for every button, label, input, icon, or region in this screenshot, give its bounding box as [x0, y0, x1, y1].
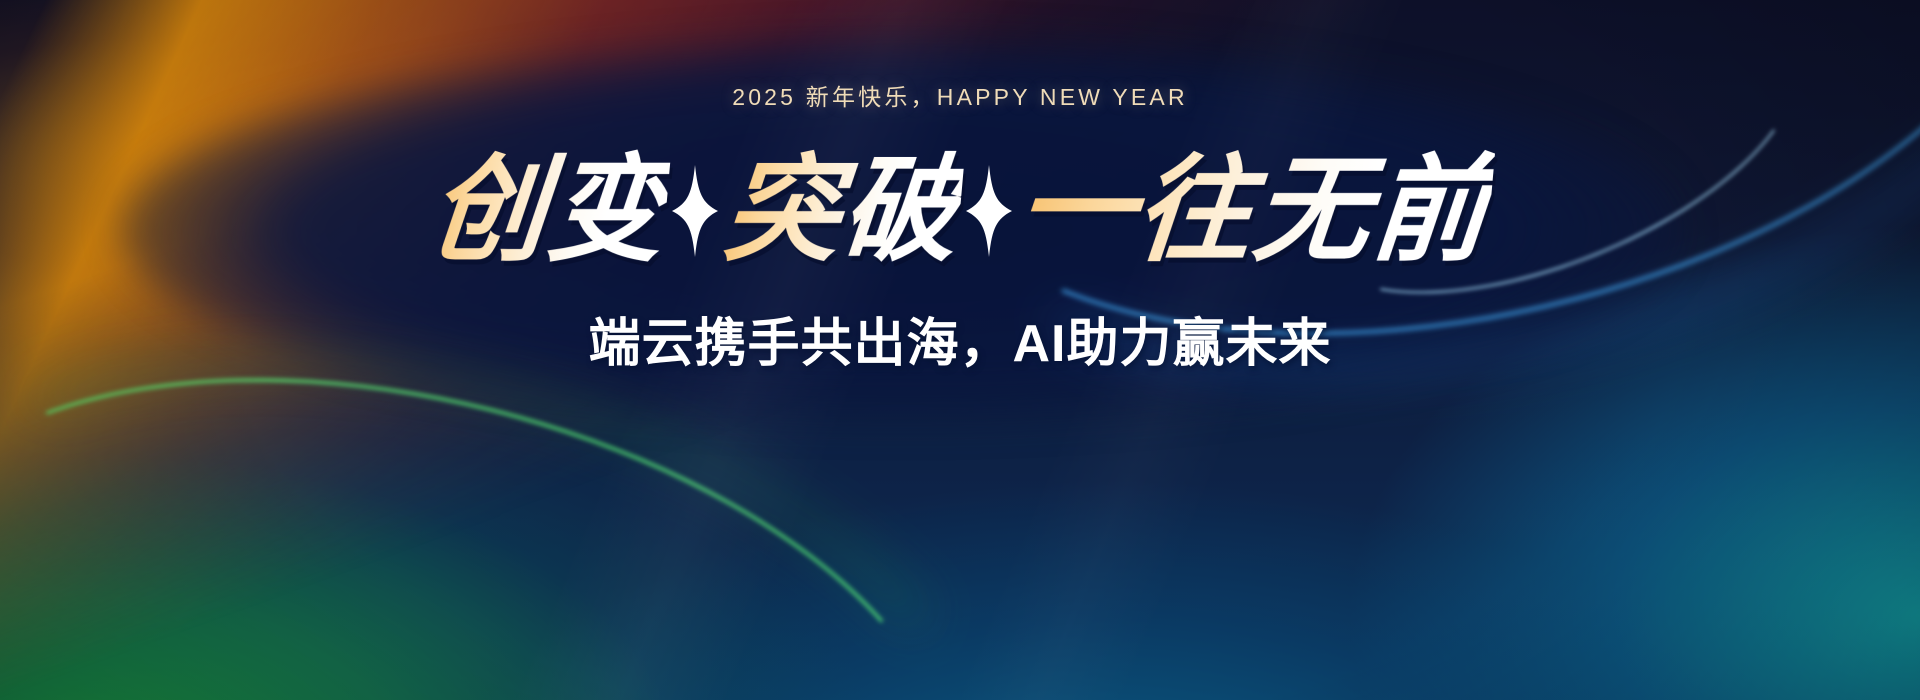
headline-segment-yiwangwuqian: 一往无前 — [1013, 148, 1496, 273]
headline: 创变 突破 一往无前 — [430, 148, 1490, 273]
headline-segment-tupo: 突破 — [719, 148, 966, 273]
subheadline-text: 端云携手共出海，AI助力赢未来 — [588, 301, 1331, 376]
new-year-banner: 2025 新年快乐，HAPPY NEW YEAR 创变 突破 一往无前 端云携手… — [0, 0, 1920, 700]
banner-content: 2025 新年快乐，HAPPY NEW YEAR 创变 突破 一往无前 端云携手… — [0, 0, 1920, 700]
headline-segment-chuangbian: 创变 — [425, 148, 672, 273]
eyebrow-text: 2025 新年快乐，HAPPY NEW YEAR — [732, 78, 1188, 112]
sparkle-icon — [668, 159, 722, 263]
sparkle-icon — [962, 159, 1016, 263]
